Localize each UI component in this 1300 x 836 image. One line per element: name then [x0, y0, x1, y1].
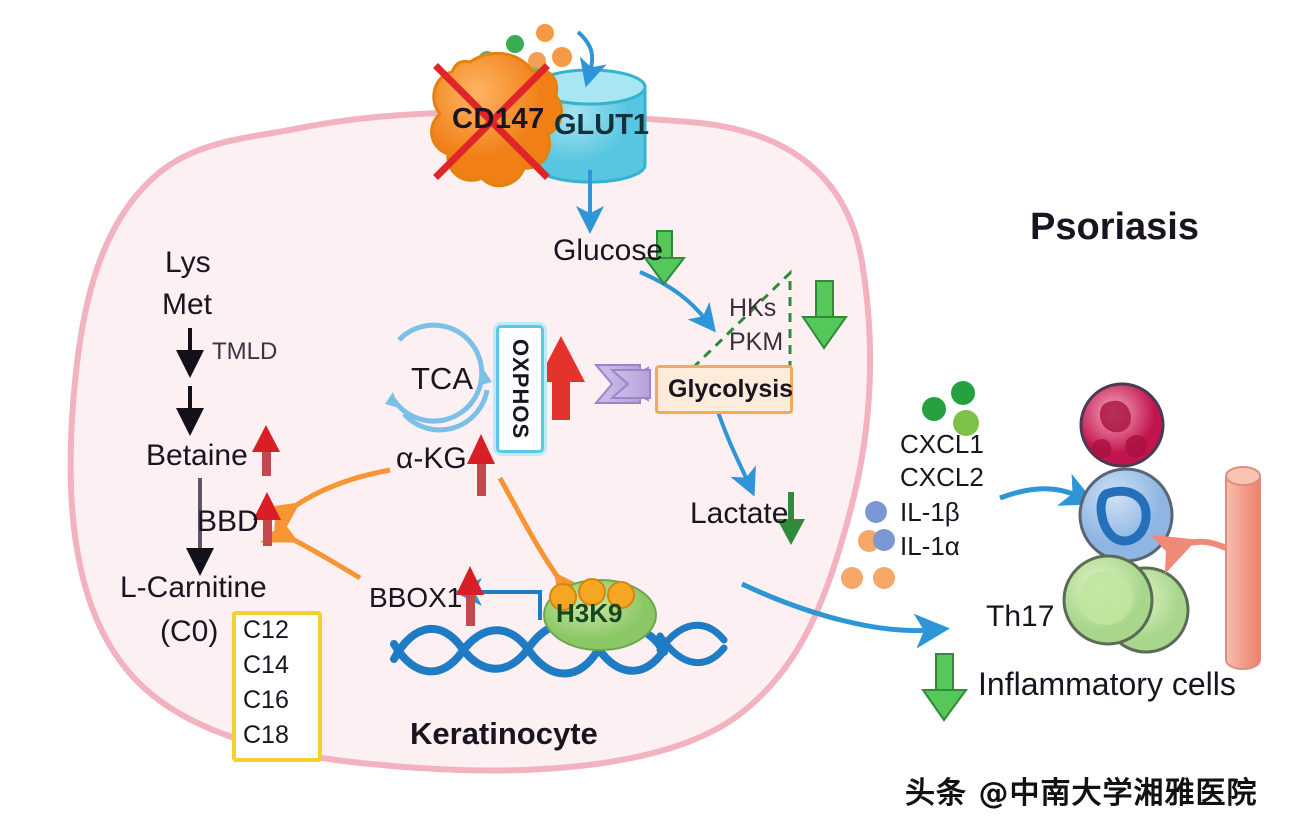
oxphos-label: OXPHOS	[499, 328, 541, 450]
acylcarnitine-c12-label: C12	[243, 618, 289, 643]
pathway-diagram: OXPHOS Lys Met TMLD Betaine BBD L-Carnit…	[0, 0, 1300, 836]
diagram-graphics	[0, 0, 1300, 836]
lactate-label: Lactate	[690, 499, 788, 529]
enzyme-tmld-label: TMLD	[212, 340, 277, 364]
alpha-kg-label: α-KG	[396, 444, 467, 474]
page-title: Psoriasis	[1030, 208, 1199, 246]
glycolysis-label: Glycolysis	[668, 377, 793, 402]
enzyme-pkm-label: PKM	[729, 330, 783, 355]
carnitine-code-label: (C0)	[160, 617, 218, 647]
l-carnitine-label: L-Carnitine	[120, 573, 267, 603]
akg-up-arrow	[467, 434, 495, 496]
h3k9-to-bbox1-arrow	[470, 592, 540, 620]
watermark: 头条 @中南大学湘雅医院	[905, 768, 1257, 812]
vessel-to-cells-arrow	[1180, 542, 1226, 548]
glycolysis-to-lactate-arrow	[718, 412, 748, 482]
glycolytic-enzymes-down-arrow	[803, 281, 846, 348]
acylcarnitine-c16-label: C16	[243, 688, 289, 713]
lymphocyte-icon	[1064, 556, 1188, 652]
glucose-to-glycolysis-arrow	[640, 272, 706, 320]
inflammatory-cells-label: Inflammatory cells	[978, 668, 1236, 700]
metabolic-flux-arrows	[290, 470, 560, 580]
inflammatory-cells-down-arrow	[923, 654, 966, 720]
th17-label: Th17	[986, 602, 1054, 632]
cytokine-il1b-label: IL-1β	[900, 499, 960, 525]
enzyme-hks-label: HKs	[729, 296, 776, 321]
h3k9-label: H3K9	[556, 600, 622, 626]
oxphos-up-arrow	[537, 336, 585, 420]
oxphos-box: OXPHOS	[496, 325, 544, 453]
substrate-met-label: Met	[162, 290, 212, 320]
enzyme-bbd-label: BBD	[197, 507, 259, 537]
purple-inhibition-arrow-left	[596, 365, 648, 403]
cytokine-cxcl1-label: CXCL1	[900, 431, 984, 457]
monocyte-icon	[1080, 469, 1172, 561]
acylcarnitine-c14-label: C14	[243, 653, 289, 678]
betaine-up-arrow	[252, 425, 280, 476]
dna-strand-icon	[394, 624, 724, 673]
betaine-label: Betaine	[146, 441, 248, 471]
cytokine-il1a-label: IL-1α	[900, 533, 960, 559]
keratinocyte-to-th17-arrow	[742, 584, 930, 631]
glucose-label: Glucose	[553, 236, 663, 266]
bbox1-gene-label: BBOX1	[369, 584, 462, 612]
cytokine-cxcl2-label: CXCL2	[900, 464, 984, 490]
cd147-label: CD147	[452, 105, 545, 134]
glucose-molecules-icon	[478, 24, 572, 96]
neutrophil-icon	[1081, 384, 1163, 466]
substrate-lys-label: Lys	[165, 248, 211, 278]
tca-cycle-label: TCA	[411, 363, 473, 394]
blood-vessel-icon	[1226, 467, 1260, 669]
cytokine-to-immune-cells-arrow	[1000, 489, 1078, 498]
purple-inhibition-arrow-right	[612, 370, 650, 398]
glut1-label: GLUT1	[554, 111, 649, 140]
keratinocyte-label: Keratinocyte	[410, 718, 598, 749]
acylcarnitine-c18-label: C18	[243, 723, 289, 748]
